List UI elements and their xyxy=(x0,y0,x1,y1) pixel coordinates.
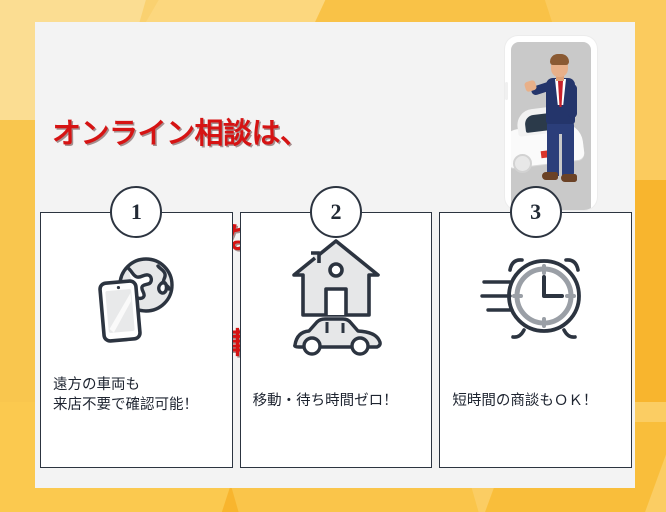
phone-screen xyxy=(511,42,591,210)
house-car-icon xyxy=(241,231,432,361)
benefit-cards: 1 遠方の車両も 来店不要で xyxy=(40,212,632,468)
salesman-hair xyxy=(550,54,569,65)
advertisement-banner: オンライン相談は、 経験知識豊富なスタッフが ビデオ通話で車両をご案内！ xyxy=(0,0,666,512)
benefit-caption-3: 短時間の商談もＯＫ！ xyxy=(440,391,631,411)
car-wheel-front xyxy=(513,154,532,173)
smartphone-globe-icon xyxy=(41,231,232,361)
headline-line-1: オンライン相談は、 xyxy=(52,117,472,152)
smartphone-mockup xyxy=(505,36,597,210)
benefit-caption-2: 移動・待ち時間ゼロ！ xyxy=(241,391,432,411)
salesman-leg-gap xyxy=(559,134,562,176)
phone-side-button-icon xyxy=(505,82,508,100)
alarm-clock-speed-icon xyxy=(440,231,631,361)
salesman-shoe-right xyxy=(561,174,577,182)
benefit-card-1[interactable]: 1 遠方の車両も 来店不要で xyxy=(40,212,233,468)
salesman-arm-right xyxy=(568,84,577,118)
benefit-card-2[interactable]: 2 移動・待ち時間ゼロ！ xyxy=(240,212,433,468)
benefit-card-3[interactable]: 3 xyxy=(439,212,632,468)
benefit-caption-1: 遠方の車両も 来店不要で確認可能！ xyxy=(41,375,232,415)
salesman-shoe-left xyxy=(542,172,558,180)
